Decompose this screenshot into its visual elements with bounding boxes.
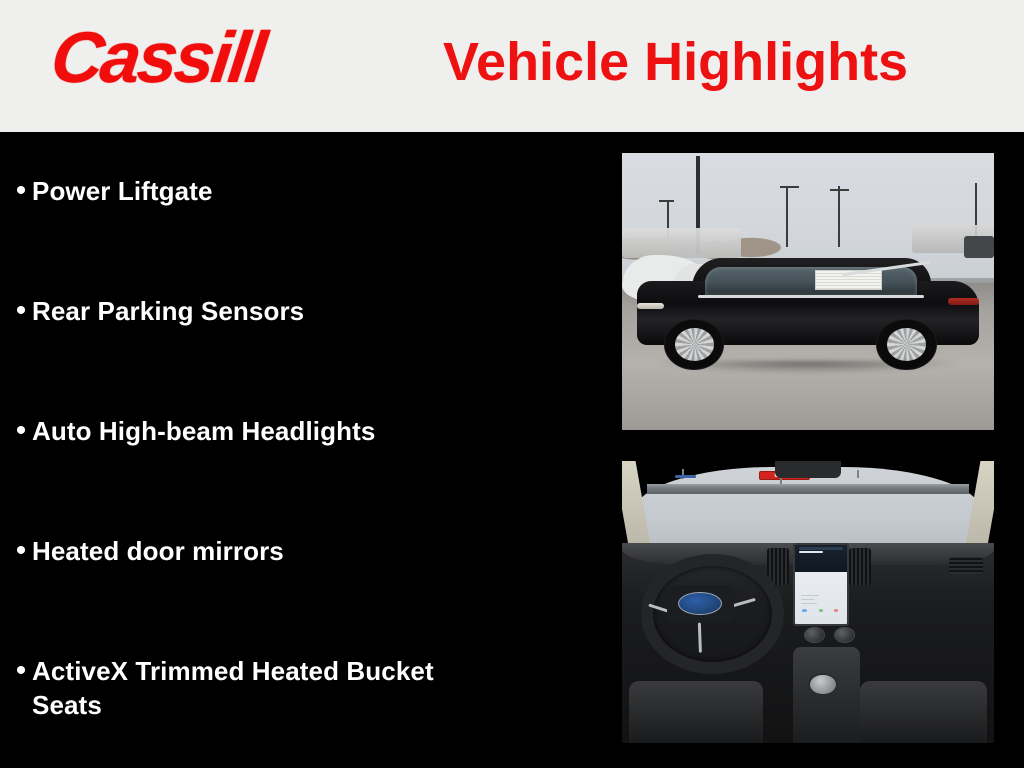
bullet-icon: • bbox=[10, 294, 32, 328]
screen-top-bar bbox=[799, 547, 843, 550]
list-item: • ActiveX Trimmed Heated Bucket Seats bbox=[10, 654, 510, 722]
screen-text-line bbox=[801, 603, 817, 605]
list-item: • Rear Parking Sensors bbox=[10, 294, 570, 328]
list-item-label: Heated door mirrors bbox=[32, 534, 570, 568]
screen-text-line bbox=[801, 599, 815, 601]
cassill-logo: Cassill bbox=[48, 22, 268, 94]
headlight-icon bbox=[637, 303, 664, 309]
highlights-list: • Power Liftgate • Rear Parking Sensors … bbox=[0, 132, 600, 768]
vehicle-windows bbox=[705, 267, 917, 296]
light-pole-icon bbox=[838, 186, 840, 247]
screen-app-icon[interactable] bbox=[802, 609, 807, 612]
list-item: • Power Liftgate bbox=[10, 174, 570, 208]
rearview-mirror bbox=[775, 461, 842, 478]
list-item: • Heated door mirrors bbox=[10, 534, 570, 568]
driver-seat bbox=[629, 681, 763, 743]
background-dark-car bbox=[964, 236, 994, 258]
alloy-rim bbox=[887, 328, 927, 361]
list-item-label: Rear Parking Sensors bbox=[32, 294, 570, 328]
bullet-icon: • bbox=[10, 174, 32, 208]
bullet-icon: • bbox=[10, 654, 32, 688]
air-vent-icon bbox=[849, 548, 871, 585]
light-pole-icon bbox=[857, 470, 859, 478]
blue-sign bbox=[675, 475, 696, 478]
bullet-icon: • bbox=[10, 534, 32, 568]
screen-status-area bbox=[795, 545, 847, 572]
windshield: Cassill bbox=[633, 467, 983, 552]
bullet-icon: • bbox=[10, 414, 32, 448]
background-trailers bbox=[622, 228, 741, 258]
ground-reflection bbox=[651, 361, 966, 374]
infotainment-touchscreen[interactable] bbox=[793, 543, 849, 626]
air-vent-icon bbox=[949, 557, 982, 574]
list-item-label: ActiveX Trimmed Heated Bucket Seats bbox=[32, 654, 510, 722]
vehicle-interior-photo: Cassill bbox=[622, 461, 994, 743]
page-title: Vehicle Highlights bbox=[443, 32, 1003, 92]
list-item-label: Power Liftgate bbox=[32, 174, 570, 208]
list-item-label: Auto High-beam Headlights bbox=[32, 414, 570, 448]
radio-frequency-readout bbox=[799, 551, 823, 553]
pole-crossarm bbox=[780, 186, 799, 188]
alloy-rim bbox=[675, 328, 715, 361]
vehicle-highlights-slide: Cassill Vehicle Highlights • Power Liftg… bbox=[0, 0, 1024, 768]
screen-app-icon[interactable] bbox=[834, 609, 839, 612]
vehicle-exterior-photo bbox=[622, 153, 994, 430]
pole-crossarm bbox=[659, 200, 674, 202]
taillight-icon bbox=[948, 298, 979, 306]
screen-app-icon[interactable] bbox=[819, 609, 824, 612]
screen-text-line bbox=[801, 595, 819, 597]
passenger-seat bbox=[860, 681, 986, 743]
suv-vehicle bbox=[637, 258, 979, 363]
slide-header: Cassill Vehicle Highlights bbox=[0, 0, 1024, 132]
screen-app-area bbox=[795, 572, 847, 624]
rotary-gear-shifter[interactable] bbox=[808, 673, 838, 697]
chrome-beltline-trim bbox=[698, 295, 924, 298]
list-item: • Auto High-beam Headlights bbox=[10, 414, 570, 448]
light-pole-icon bbox=[786, 186, 788, 247]
ford-logo-icon bbox=[678, 592, 722, 615]
parking-lot bbox=[647, 484, 969, 494]
steering-wheel-hub bbox=[667, 585, 734, 622]
slide-body: • Power Liftgate • Rear Parking Sensors … bbox=[0, 132, 1024, 768]
pole-crossarm bbox=[830, 189, 849, 191]
